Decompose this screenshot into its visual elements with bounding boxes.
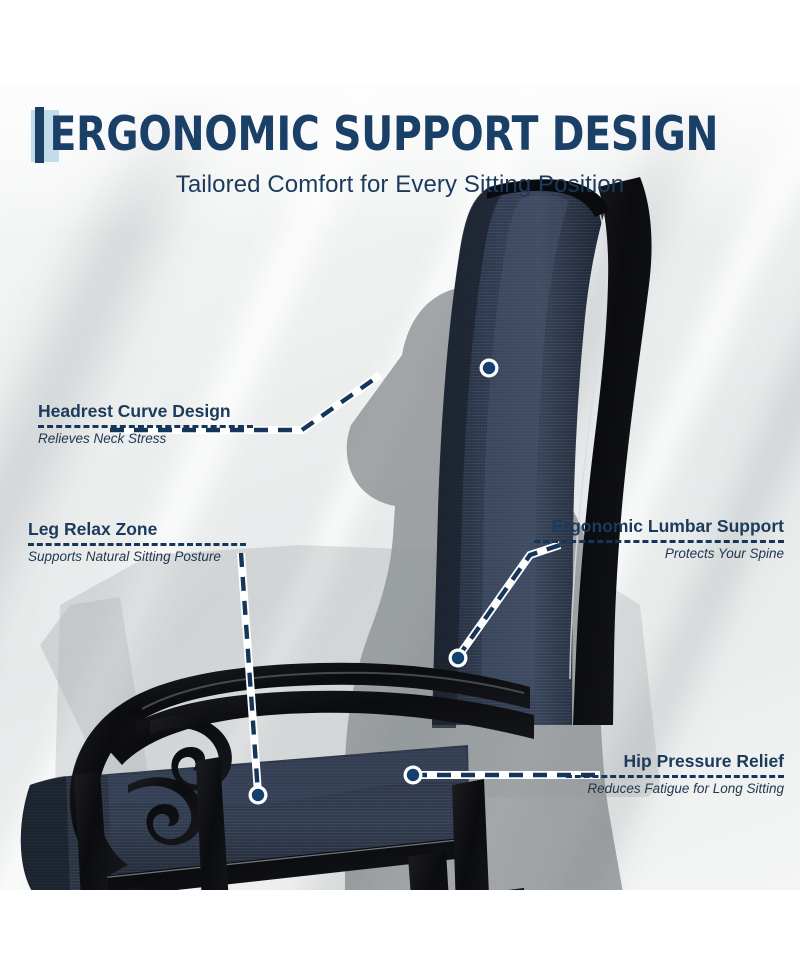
callout-title: Ergonomic Lumbar Support (534, 515, 784, 537)
callout-rule (534, 540, 784, 543)
callout-rule (28, 543, 246, 546)
callout-headrest: Headrest Curve Design Relieves Neck Stre… (38, 400, 253, 448)
callout-title: Hip Pressure Relief (566, 750, 784, 772)
title-wrap: ERGONOMIC SUPPORT DESIGN (29, 104, 770, 166)
marker-headrest (480, 359, 499, 378)
callout-rule (566, 775, 784, 778)
page-title: ERGONOMIC SUPPORT DESIGN (29, 104, 718, 166)
callout-rule (38, 425, 253, 428)
page-subtitle: Tailored Comfort for Every Sitting Posit… (0, 170, 800, 200)
callout-leg-relax: Leg Relax Zone Supports Natural Sitting … (28, 518, 246, 566)
callout-lumbar: Ergonomic Lumbar Support Protects Your S… (534, 515, 784, 563)
callout-subtitle: Reduces Fatigue for Long Sitting (566, 780, 784, 798)
header: ERGONOMIC SUPPORT DESIGN Tailored Comfor… (0, 104, 800, 200)
marker-lumbar (449, 649, 468, 668)
callout-hip: Hip Pressure Relief Reduces Fatigue for … (566, 750, 784, 798)
top-white-band (0, 0, 800, 85)
callout-title: Headrest Curve Design (38, 400, 253, 422)
callout-subtitle: Supports Natural Sitting Posture (28, 548, 246, 566)
marker-hip (404, 766, 423, 785)
callout-subtitle: Protects Your Spine (534, 545, 784, 563)
infographic-root: ERGONOMIC SUPPORT DESIGN Tailored Comfor… (0, 0, 800, 977)
bottom-white-band (0, 890, 800, 977)
callout-subtitle: Relieves Neck Stress (38, 430, 253, 448)
callout-title: Leg Relax Zone (28, 518, 246, 540)
marker-leg-relax (249, 786, 268, 805)
